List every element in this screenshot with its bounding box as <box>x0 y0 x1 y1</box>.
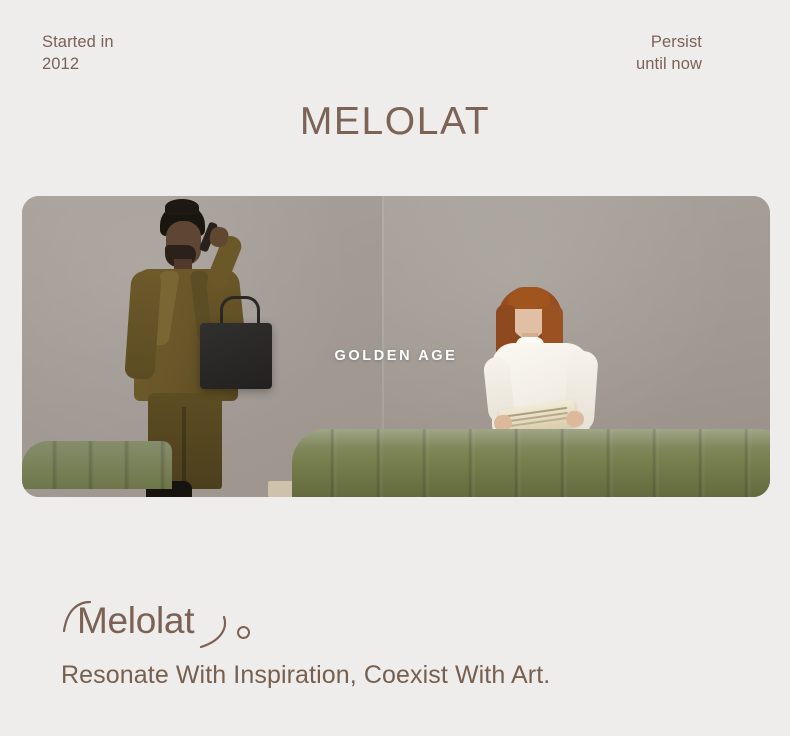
header-meta-row: Started in 2012 Persist until now <box>42 32 748 82</box>
hero-image: GOLDEN AGE <box>22 196 770 497</box>
persist-meta: Persist until now <box>636 32 702 76</box>
logo-degree-mark-icon <box>237 626 250 639</box>
golden-age-caption: GOLDEN AGE <box>22 348 770 364</box>
brand-logo: Melolat <box>62 598 292 654</box>
brand-title: MELOLAT <box>0 102 790 141</box>
woman-hand-right <box>566 411 584 427</box>
logo-wordmark: Melolat <box>77 598 194 643</box>
started-in-year: 2012 <box>42 54 114 76</box>
bench-backrest-channels <box>22 441 172 489</box>
bench-backrest <box>22 441 172 489</box>
green-bench <box>292 429 770 497</box>
persist-until-now-label: until now <box>636 54 702 76</box>
bench-channels <box>292 429 770 497</box>
started-in-meta: Started in 2012 <box>42 32 114 76</box>
brand-tagline: Resonate With Inspiration, Coexist With … <box>61 660 550 690</box>
logo-arc-right-icon <box>198 616 232 650</box>
started-in-label: Started in <box>42 32 114 54</box>
persist-label: Persist <box>636 32 702 54</box>
